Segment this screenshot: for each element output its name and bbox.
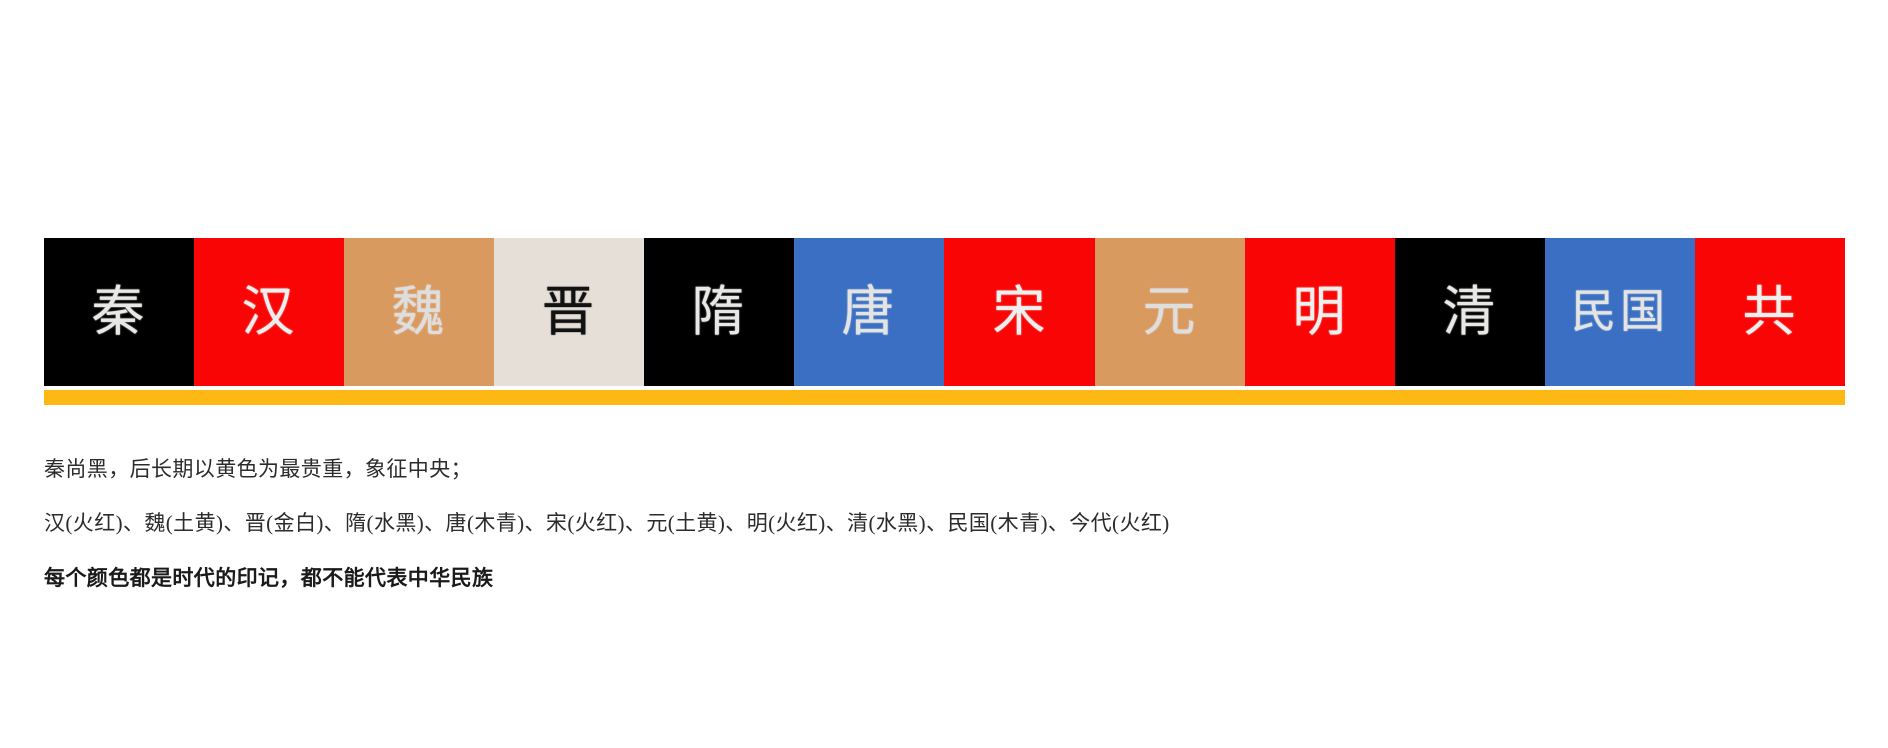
dynasty-segment-label: 民国 — [1571, 289, 1669, 335]
dynasty-segment[interactable]: 隋 — [644, 238, 794, 386]
dynasty-segment-label: 秦 — [92, 285, 147, 339]
dynasty-segment-label: 清 — [1442, 285, 1497, 339]
timeline-underbar — [44, 390, 1845, 405]
caption-line: 每个颜色都是时代的印记，都不能代表中华民族 — [44, 564, 1744, 592]
caption-line: 汉(火红)、魏(土黄)、晋(金白)、隋(水黑)、唐(木青)、宋(火红)、元(土黄… — [44, 509, 1744, 537]
dynasty-segment[interactable]: 魏 — [344, 238, 494, 386]
dynasty-band: 秦汉魏晋隋唐宋元明清民国共 — [44, 238, 1845, 386]
dynasty-segment-label: 魏 — [392, 285, 447, 339]
dynasty-segment[interactable]: 汉 — [194, 238, 344, 386]
dynasty-segment-label: 共 — [1742, 285, 1797, 339]
dynasty-segment[interactable]: 共 — [1695, 238, 1845, 386]
dynasty-segment-label: 隋 — [692, 285, 747, 339]
dynasty-segment[interactable]: 唐 — [794, 238, 944, 386]
dynasty-segment-label: 元 — [1142, 285, 1197, 339]
page-root: 秦汉魏晋隋唐宋元明清民国共 秦尚黑，后长期以黄色为最贵重，象征中央；汉(火红)、… — [0, 0, 1888, 748]
caption-block: 秦尚黑，后长期以黄色为最贵重，象征中央；汉(火红)、魏(土黄)、晋(金白)、隋(… — [44, 455, 1744, 592]
dynasty-segment[interactable]: 民国 — [1545, 238, 1695, 386]
dynasty-segment[interactable]: 宋 — [944, 238, 1094, 386]
dynasty-segment-label: 晋 — [542, 285, 597, 339]
dynasty-segment[interactable]: 清 — [1395, 238, 1545, 386]
caption-line: 秦尚黑，后长期以黄色为最贵重，象征中央； — [44, 455, 1744, 483]
dynasty-segment[interactable]: 晋 — [494, 238, 644, 386]
dynasty-segment-label: 汉 — [242, 285, 297, 339]
dynasty-segment-label: 宋 — [992, 285, 1047, 339]
dynasty-segment[interactable]: 元 — [1095, 238, 1245, 386]
dynasty-segment-label: 明 — [1292, 285, 1347, 339]
dynasty-segment-label: 唐 — [842, 285, 897, 339]
dynasty-segment[interactable]: 明 — [1245, 238, 1395, 386]
dynasty-segment[interactable]: 秦 — [44, 238, 194, 386]
dynasty-color-timeline: 秦汉魏晋隋唐宋元明清民国共 — [44, 238, 1845, 405]
